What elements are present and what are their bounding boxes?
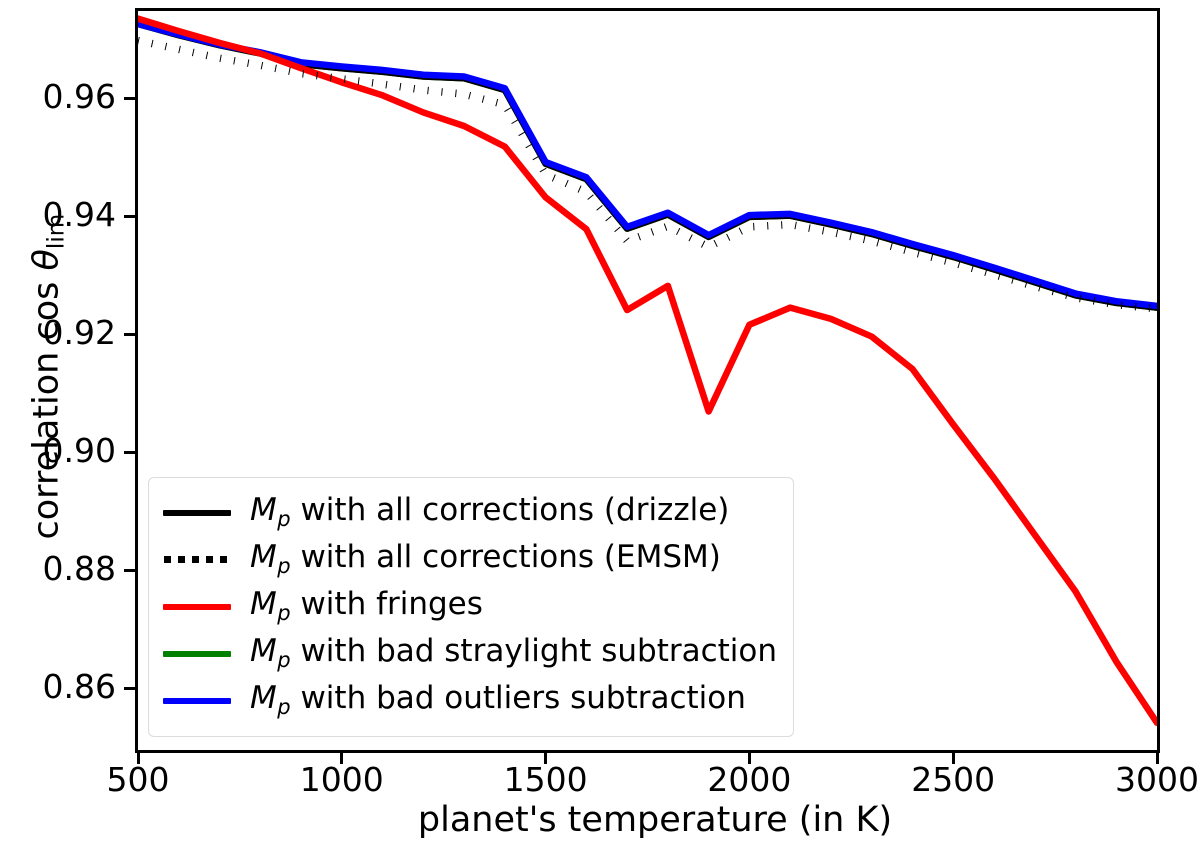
x-tick-label: 1500 (504, 760, 588, 799)
x-axis-label: planet's temperature (in K) (0, 800, 1200, 840)
legend-item[interactable]: Mp with all corrections (drizzle) (163, 489, 777, 536)
y-axis-label-subscript: lim (44, 214, 70, 249)
legend-item[interactable]: Mp with fringes (163, 583, 777, 630)
y-tick-mark (124, 687, 135, 690)
y-axis-label: correlation cos θlim (26, 97, 69, 657)
y-tick-mark (124, 215, 135, 218)
legend-label: Mp with fringes (250, 589, 483, 624)
legend-label: Mp with all corrections (drizzle) (250, 495, 729, 530)
legend-item[interactable]: Mp with bad straylight subtraction (163, 630, 777, 677)
figure-canvas: 0.860.880.900.920.940.96 correlation cos… (0, 0, 1200, 848)
x-tick-label: 1000 (300, 760, 384, 799)
y-tick-mark (124, 569, 135, 572)
theta-symbol: θ (26, 249, 66, 270)
legend-swatch-icon (163, 597, 231, 617)
legend-swatch-icon (163, 550, 231, 570)
legend-swatch-icon (163, 503, 231, 523)
legend: Mp with all corrections (drizzle)Mp with… (148, 477, 794, 737)
x-tick-label: 3000 (1115, 760, 1199, 799)
legend-swatch-icon (163, 644, 231, 664)
y-tick-mark (124, 451, 135, 454)
legend-item[interactable]: Mp with all corrections (EMSM) (163, 536, 777, 583)
legend-label: Mp with all corrections (EMSM) (250, 542, 721, 577)
y-tick-mark (124, 97, 135, 100)
y-tick-label: 0.86 (0, 667, 116, 706)
x-axis-label-text: planet's temperature (in K) (418, 800, 892, 840)
x-tick-label: 500 (107, 760, 170, 799)
legend-item[interactable]: Mp with bad outliers subtraction (163, 677, 777, 724)
x-tick-label: 2000 (707, 760, 791, 799)
legend-label: Mp with bad outliers subtraction (250, 683, 746, 718)
y-axis-label-text: correlation cos (26, 271, 66, 540)
legend-swatch-icon (163, 691, 231, 711)
legend-label: Mp with bad straylight subtraction (250, 636, 777, 671)
x-tick-label: 2500 (911, 760, 995, 799)
y-tick-mark (124, 333, 135, 336)
